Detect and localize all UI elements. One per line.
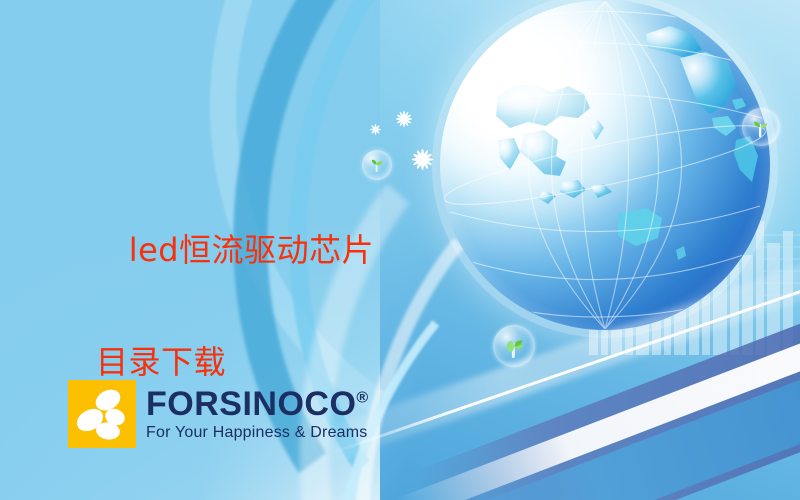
logo-wordmark: FORSINOCO® <box>146 387 369 421</box>
logo-text-block: FORSINOCO® For Your Happiness & Dreams <box>146 387 369 441</box>
promo-banner: led恒流驱动芯片 目录下载 FORSINOCO® For Your Happi… <box>0 0 800 500</box>
flower-sparkle-lower <box>409 146 436 173</box>
globe-rim-glow <box>432 0 778 338</box>
sprout-icon <box>749 115 773 139</box>
earth-globe <box>440 0 770 330</box>
sprout-icon <box>501 333 528 360</box>
registered-trademark-icon: ® <box>356 390 368 407</box>
headline-line-1: led恒流驱动芯片 <box>129 231 374 269</box>
logo-tagline: For Your Happiness & Dreams <box>146 425 369 441</box>
bubble-with-sprout-center <box>493 325 535 367</box>
logo-wordmark-text: FORSINOCO <box>146 385 356 423</box>
bubble-with-sprout-top-right <box>742 108 780 146</box>
headline-text: led恒流驱动芯片 目录下载 <box>86 166 374 500</box>
forsinoco-pinwheel-mark <box>68 380 136 448</box>
flower-sparkle-upper <box>393 108 415 130</box>
flower-sparkle-small <box>368 122 383 137</box>
pinwheel-petals-icon <box>68 380 136 448</box>
brand-logo: FORSINOCO® For Your Happiness & Dreams <box>68 380 369 448</box>
